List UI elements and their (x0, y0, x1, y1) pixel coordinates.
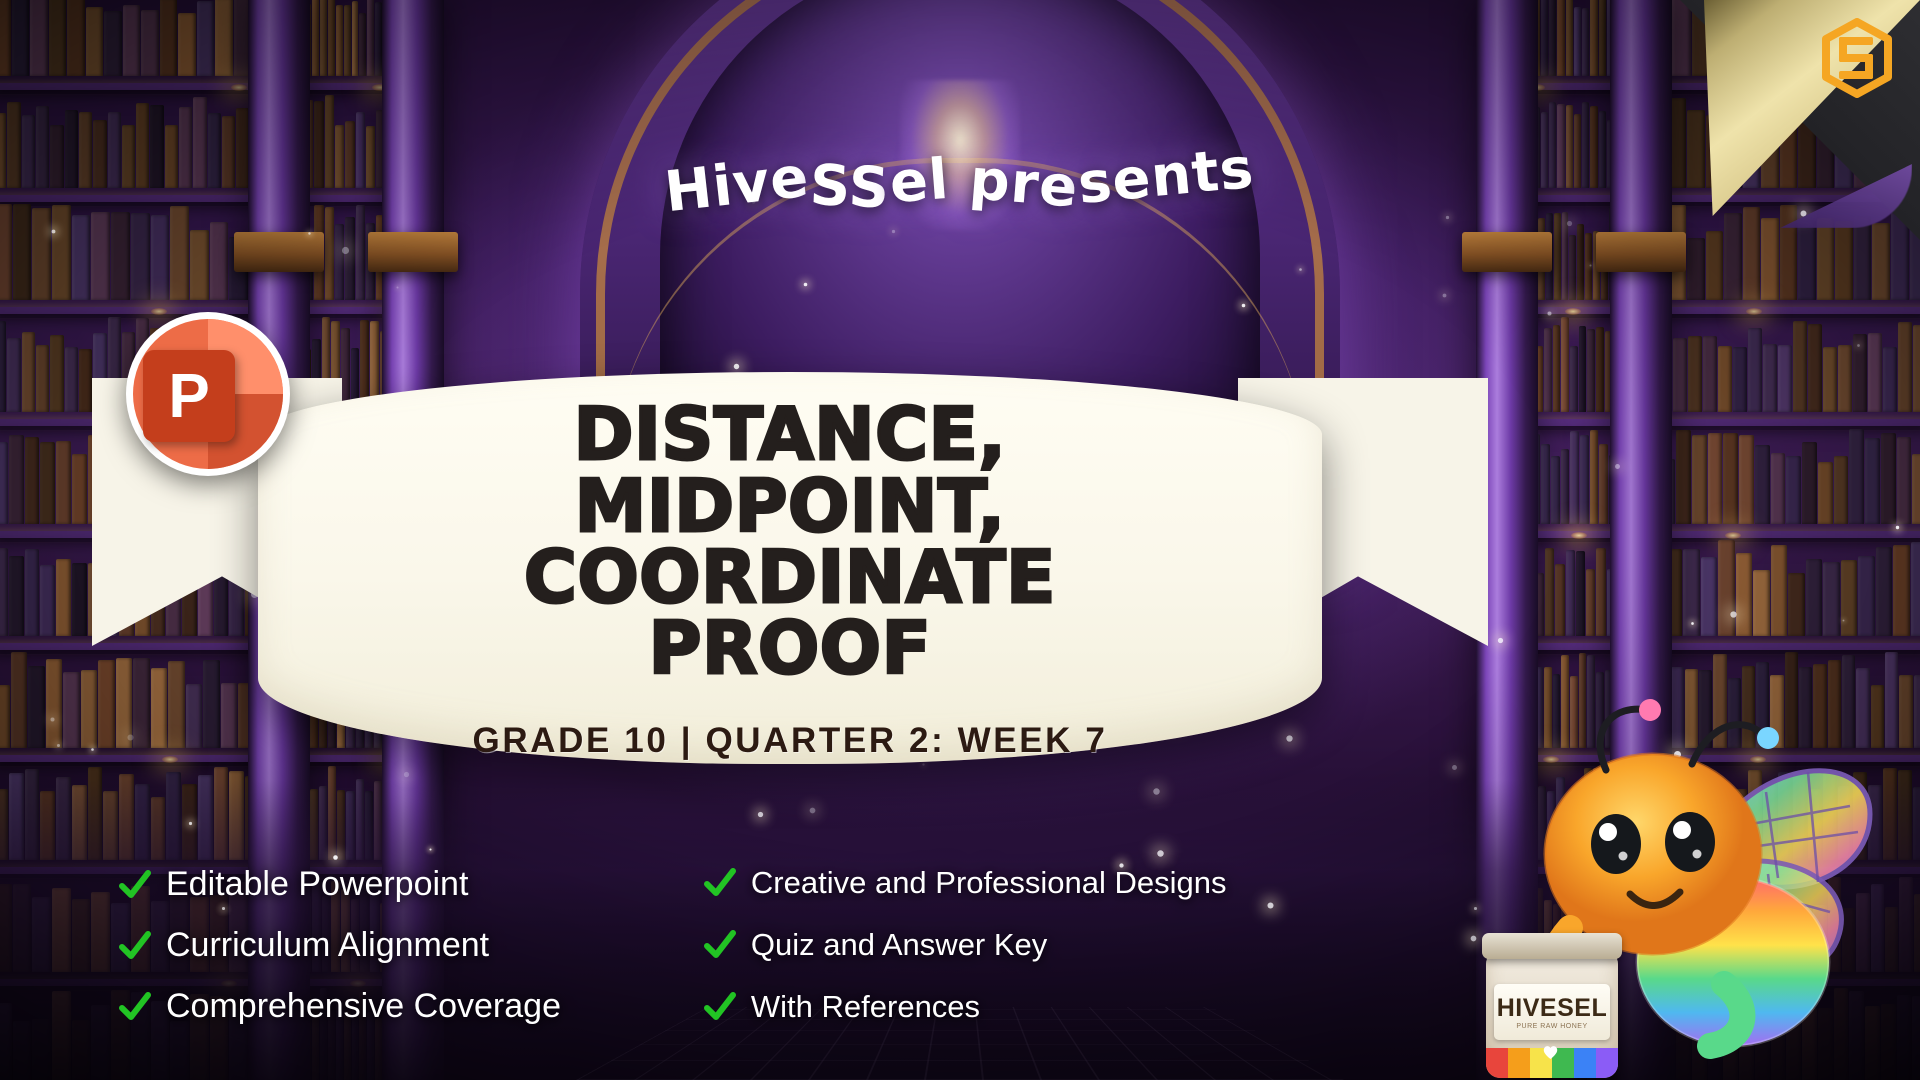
feature-column-right: Creative and Professional Designs Quiz a… (703, 865, 1238, 1026)
honey-jar-label: HIVESEL PURE RAW HONEY (1494, 984, 1610, 1040)
sparkle (57, 744, 60, 747)
promo-graphic: HiveSSel presents Distance, Midpoint, Co… (0, 0, 1920, 1080)
powerpoint-icon-square: P (143, 350, 235, 442)
honey-jar: HIVESEL PURE RAW HONEY (1486, 950, 1618, 1078)
sparkle (404, 772, 409, 777)
sparkle (803, 283, 807, 287)
heart-icon (1542, 1044, 1559, 1060)
sparkle (1896, 526, 1899, 529)
title-banner: Distance, Midpoint, Coordinate Proof GRA… (92, 372, 1488, 764)
feature-list: Editable Powerpoint Curriculum Alignment… (118, 865, 1238, 1026)
sparkle (1241, 303, 1245, 307)
green-check-icon (703, 866, 737, 900)
sparkle (1446, 216, 1449, 219)
jar-tagline-text: PURE RAW HONEY (1516, 1023, 1587, 1030)
green-check-icon (118, 868, 152, 902)
list-item: Quiz and Answer Key (703, 927, 1238, 963)
presents-word-2: SS (808, 153, 891, 222)
banner-body: Distance, Midpoint, Coordinate Proof GRA… (258, 372, 1322, 764)
presents-word-3: el (887, 147, 951, 216)
sparkle (1498, 638, 1503, 643)
rainbow-bee-mascot: HIVESEL PURE RAW HONEY (1478, 666, 1878, 1080)
feature-label: Creative and Professional Designs (751, 865, 1227, 901)
list-item: Editable Powerpoint (118, 865, 673, 904)
sparkle (1153, 788, 1159, 794)
jar-brand-text: HIVESEL (1497, 994, 1607, 1023)
powerpoint-icon-letter: P (143, 350, 235, 442)
list-item: Comprehensive Coverage (118, 987, 673, 1026)
antenna-tip-right (1757, 727, 1779, 749)
feature-label: Quiz and Answer Key (751, 927, 1047, 963)
presents-word-1: Hive (662, 145, 813, 226)
presents-word-5: sents (1076, 136, 1258, 217)
sparkle (1800, 210, 1806, 216)
green-check-icon (118, 990, 152, 1024)
feature-label: Editable Powerpoint (166, 865, 468, 904)
green-check-icon (703, 928, 737, 962)
list-item: Creative and Professional Designs (703, 865, 1238, 901)
page-title: Distance, Midpoint, Coordinate Proof (378, 399, 1202, 684)
powerpoint-icon[interactable]: P (126, 312, 290, 476)
sparkle (1157, 850, 1164, 857)
honey-jar-lid (1482, 933, 1622, 959)
sparkle (333, 855, 338, 860)
antenna-tip-left (1639, 699, 1661, 721)
title-line-2: Coordinate Proof (378, 542, 1202, 685)
title-line-1: Distance, Midpoint, (378, 399, 1202, 542)
grade-quarter-week-subtitle: GRADE 10 | QUARTER 2: WEEK 7 (473, 721, 1108, 761)
sparkle (891, 230, 894, 233)
presents-word-4: pre (967, 147, 1081, 221)
feature-label: Comprehensive Coverage (166, 987, 561, 1026)
list-item: Curriculum Alignment (118, 926, 673, 965)
feature-column-left: Editable Powerpoint Curriculum Alignment… (118, 865, 673, 1026)
hexagon-honeycomb-logo-icon[interactable] (1820, 18, 1894, 98)
feature-label: Curriculum Alignment (166, 926, 489, 965)
green-check-icon (118, 929, 152, 963)
list-item: With References (703, 989, 1238, 1025)
feature-label: With References (751, 989, 980, 1025)
green-check-icon (703, 990, 737, 1024)
